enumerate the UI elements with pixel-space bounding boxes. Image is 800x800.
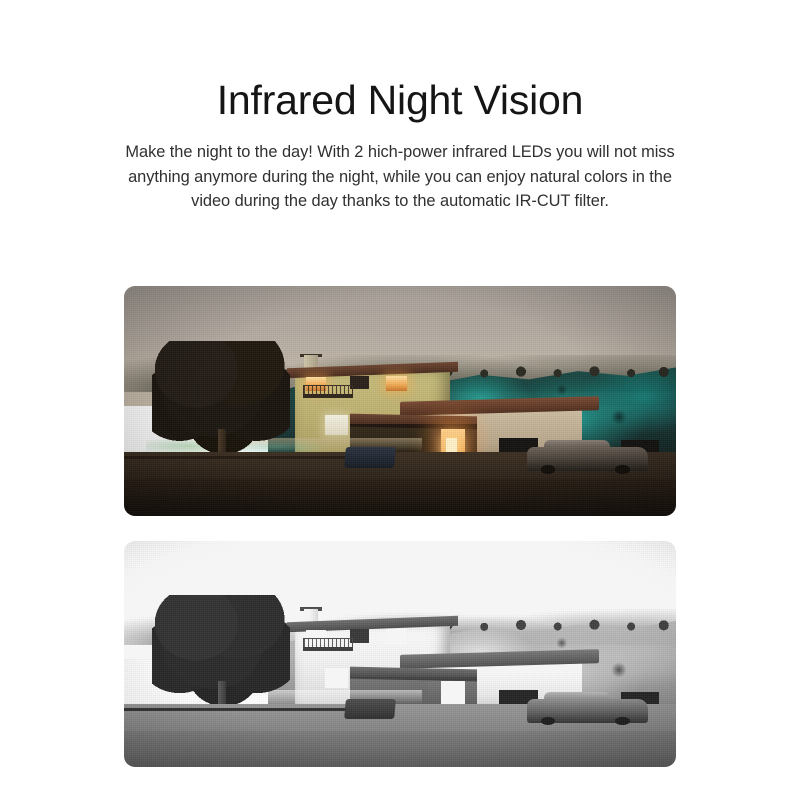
page-title: Infrared Night Vision bbox=[0, 75, 800, 125]
window-upper-right bbox=[386, 376, 407, 391]
foreground-ground bbox=[124, 731, 676, 767]
rail-fence bbox=[124, 456, 356, 459]
window-upper-right bbox=[386, 629, 407, 644]
product-feature-page: Infrared Night Vision Make the night to … bbox=[0, 0, 800, 800]
balcony-slab bbox=[303, 394, 353, 398]
window-lower-lit bbox=[325, 415, 347, 436]
window-dark-upper bbox=[350, 376, 369, 390]
night-color-photo bbox=[124, 286, 676, 516]
night-color-scene bbox=[124, 286, 676, 516]
parked-cart bbox=[344, 699, 395, 719]
rail-fence bbox=[124, 708, 356, 711]
car-wheel-front bbox=[541, 465, 555, 473]
window-dark-upper bbox=[350, 629, 369, 643]
infrared-grayscale-photo bbox=[124, 541, 676, 767]
foreground-ground bbox=[124, 479, 676, 516]
feature-description: Make the night to the day! With 2 hich-p… bbox=[110, 140, 690, 214]
balcony-railing bbox=[303, 385, 353, 394]
balcony-railing bbox=[303, 638, 353, 647]
window-lower-lit bbox=[325, 668, 347, 688]
infrared-scene bbox=[124, 541, 676, 767]
car-wheel-rear bbox=[615, 465, 629, 473]
balcony-slab bbox=[303, 647, 353, 651]
parked-cart bbox=[344, 447, 395, 468]
